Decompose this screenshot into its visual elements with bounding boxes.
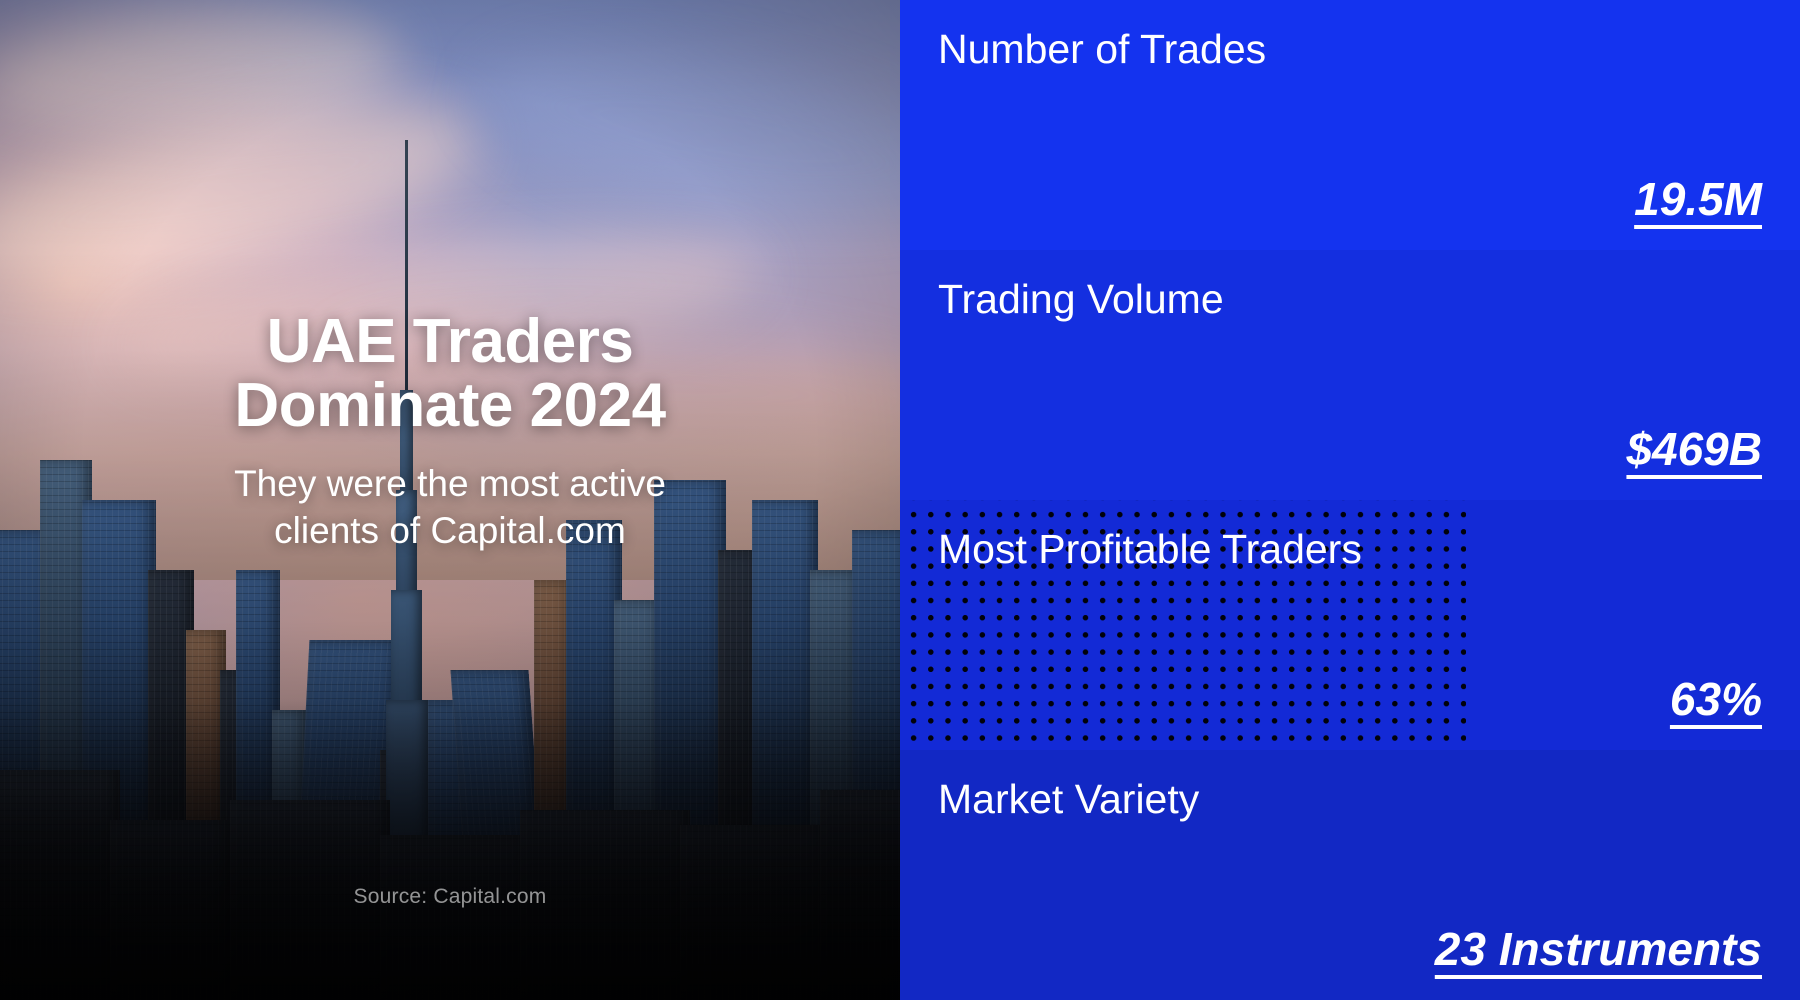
hero-image-panel: UAE Traders Dominate 2024 They were the … [0,0,900,1000]
hero-subtitle-line-1: They were the most active [234,463,666,504]
hero-title: UAE Traders Dominate 2024 [40,310,860,438]
stat-panel-trading-volume: Trading Volume $469B [900,250,1800,500]
hero-title-line-2: Dominate 2024 [234,371,665,440]
stats-panel-column: Number of Trades 19.5M Trading Volume $4… [900,0,1800,1000]
stat-value: $469B [1626,422,1762,476]
hero-text-block: UAE Traders Dominate 2024 They were the … [0,310,900,554]
stat-panel-number-of-trades: Number of Trades 19.5M [900,0,1800,250]
source-attribution: Source: Capital.com [0,885,900,909]
hero-subtitle: They were the most active clients of Cap… [40,460,860,555]
stat-label: Market Variety [938,776,1199,823]
stat-value: 19.5M [1634,172,1762,226]
hero-title-line-1: UAE Traders [267,307,634,376]
stat-label: Trading Volume [938,276,1224,323]
stat-panel-market-variety: Market Variety 23 Instruments [900,750,1800,1000]
stat-label: Number of Trades [938,26,1266,73]
stat-panel-most-profitable-traders: Most Profitable Traders 63% [900,500,1800,750]
stat-label: Most Profitable Traders [938,526,1362,573]
stat-value: 23 Instruments [1435,922,1762,976]
hero-subtitle-line-2: clients of Capital.com [274,510,626,551]
stat-value: 63% [1670,672,1762,726]
infographic-canvas: UAE Traders Dominate 2024 They were the … [0,0,1800,1000]
